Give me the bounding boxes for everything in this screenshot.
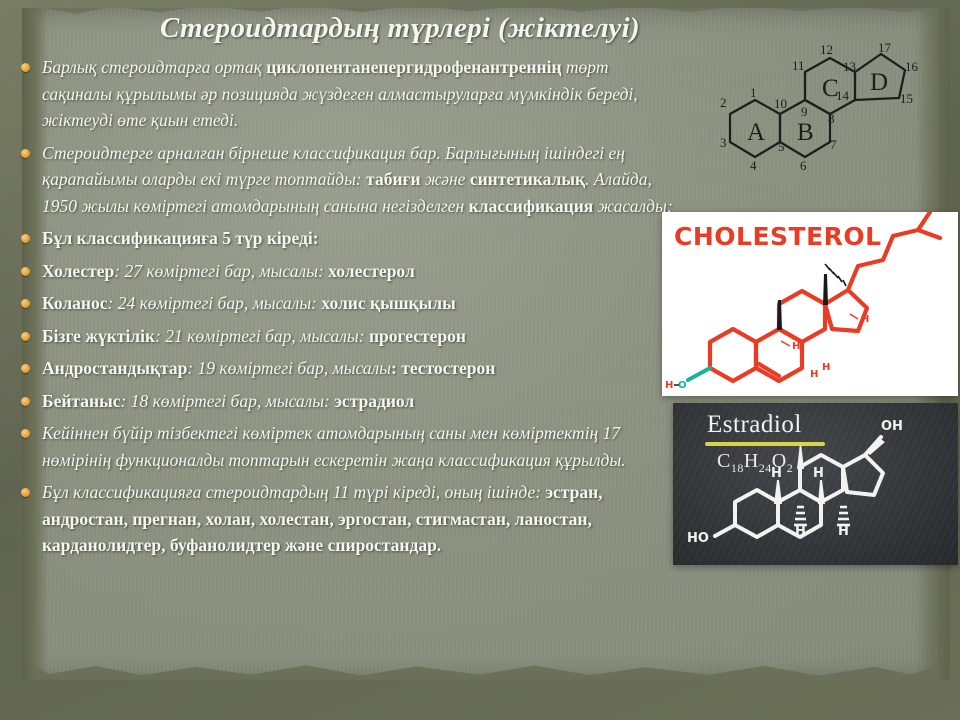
page-title: Стероидтардың түрлері (жіктелуі) xyxy=(90,8,710,50)
estradiol-image: Estradiol C18H24O2 xyxy=(673,403,958,565)
ring-label-A: A xyxy=(747,119,765,146)
bullet-dot-icon xyxy=(21,397,30,406)
ring-label-C: C xyxy=(822,75,839,102)
estradiol-oh-label: OH xyxy=(881,419,903,434)
bullet-text: Коланос: 24 көміртегі бар, мысалы: холис… xyxy=(42,290,676,317)
ring-number-12: 12 xyxy=(820,42,833,57)
ring-number-10: 10 xyxy=(774,96,787,111)
cholesterol-h-label-3: H xyxy=(822,362,830,373)
estradiol-title-underline xyxy=(705,442,825,446)
slide-canvas: Стероидтардың түрлері (жіктелуі) Барлық … xyxy=(0,0,960,720)
ring-number-7: 7 xyxy=(830,137,837,152)
bullet-item-cholane-24: Коланос: 24 көміртегі бар, мысалы: холис… xyxy=(10,290,676,317)
bullet-dot-icon xyxy=(21,429,30,438)
cholesterol-ho-label: H xyxy=(665,380,673,391)
bullet-item-eleven-types: Бұл классификацияға стероидтардың 11 түр… xyxy=(10,479,676,559)
cholesterol-h-label-4: H xyxy=(861,314,869,325)
bullet-item-classifications-exist: Стероидтерге арналған бірнеше классифика… xyxy=(10,140,676,220)
bullet-item-pregnane-21: Бізге жүктілік: 21 көміртегі бар, мысалы… xyxy=(10,323,676,350)
ring-number-3: 3 xyxy=(720,135,727,150)
ring-number-1: 1 xyxy=(750,85,757,100)
ring-number-9: 9 xyxy=(801,104,808,119)
ring-number-5: 5 xyxy=(778,139,785,154)
bullet-text: Барлық стероидтарға ортақ циклопентанепе… xyxy=(42,54,676,134)
cholesterol-h-label-2: H xyxy=(810,369,818,380)
cholesterol-o-label: O xyxy=(678,380,687,391)
bullet-dot-icon xyxy=(21,149,30,158)
estradiol-h-label-4: H xyxy=(838,524,849,539)
bullet-text: Кейіннен бүйір тізбектегі көміртек атомд… xyxy=(42,420,676,473)
cholesterol-h-label-1: H xyxy=(792,341,800,352)
bullet-dot-icon xyxy=(21,299,30,308)
ring-number-15: 15 xyxy=(900,91,913,106)
bullet-text: Андростандықтар: 19 көміртегі бар, мысал… xyxy=(42,355,676,382)
bullet-item-common-core: Барлық стероидтарға ортақ циклопентанепе… xyxy=(10,54,676,134)
estradiol-h-label-3: H xyxy=(795,524,806,539)
bullet-item-five-types-heading: Бұл классификацияға 5 түр кіреді: xyxy=(10,225,676,252)
bullet-dot-icon xyxy=(21,63,30,72)
bullet-item-androstane-19: Андростандықтар: 19 көміртегі бар, мысал… xyxy=(10,355,676,382)
bullet-list: Барлық стероидтарға ортақ циклопентанепе… xyxy=(10,54,676,565)
formula-24: 24 xyxy=(759,461,772,475)
ring-number-13: 13 xyxy=(843,59,856,74)
cholesterol-title: CHOLESTEROL xyxy=(674,222,882,251)
ring-number-16: 16 xyxy=(905,59,919,74)
bullet-dot-icon xyxy=(21,234,30,243)
bullet-item-cholestane-27: Холестер: 27 көміртегі бар, мысалы: холе… xyxy=(10,258,676,285)
bullet-text: Бейтаныс: 18 көміртегі бар, мысалы: эстр… xyxy=(42,388,676,415)
ring-number-2: 2 xyxy=(720,95,727,110)
estradiol-ho-label: HO xyxy=(687,531,709,546)
bullet-item-new-classification: Кейіннен бүйір тізбектегі көміртек атомд… xyxy=(10,420,676,473)
ring-number-4: 4 xyxy=(750,158,757,173)
bullet-text: Бізге жүктілік: 21 көміртегі бар, мысалы… xyxy=(42,323,676,350)
formula-18: 18 xyxy=(731,461,744,475)
bullet-text: Бұл классификацияға стероидтардың 11 түр… xyxy=(42,479,676,559)
formula-c1: C xyxy=(717,450,731,472)
formula-h: H xyxy=(744,450,759,472)
bullet-item-estrane-18: Бейтаныс: 18 көміртегі бар, мысалы: эстр… xyxy=(10,388,676,415)
ring-label-B: B xyxy=(797,119,814,146)
bullet-text: Стероидтерге арналған бірнеше классифика… xyxy=(42,140,676,220)
bullet-text: Бұл классификацияға 5 түр кіреді: xyxy=(42,225,676,252)
ring-label-D: D xyxy=(870,69,888,96)
bullet-dot-icon xyxy=(21,267,30,276)
steroid-ring-diagram: 1 2 3 4 5 6 7 8 9 10 11 12 13 14 15 16 1… xyxy=(700,18,948,200)
bullet-dot-icon xyxy=(21,332,30,341)
ring-number-8: 8 xyxy=(828,111,835,126)
formula-o: O xyxy=(772,450,787,472)
cholesterol-image: CHOLESTEROL xyxy=(662,212,958,396)
bullet-dot-icon xyxy=(21,488,30,497)
estradiol-title: Estradiol xyxy=(707,411,802,439)
ring-number-11: 11 xyxy=(792,58,805,73)
ring-number-17: 17 xyxy=(878,40,892,55)
estradiol-h-label-2: H xyxy=(813,466,824,481)
formula-2: 2 xyxy=(787,461,794,475)
estradiol-formula: C18H24O2 xyxy=(717,450,793,476)
bullet-dot-icon xyxy=(21,364,30,373)
bullet-text: Холестер: 27 көміртегі бар, мысалы: холе… xyxy=(42,258,676,285)
ring-number-6: 6 xyxy=(800,158,807,173)
